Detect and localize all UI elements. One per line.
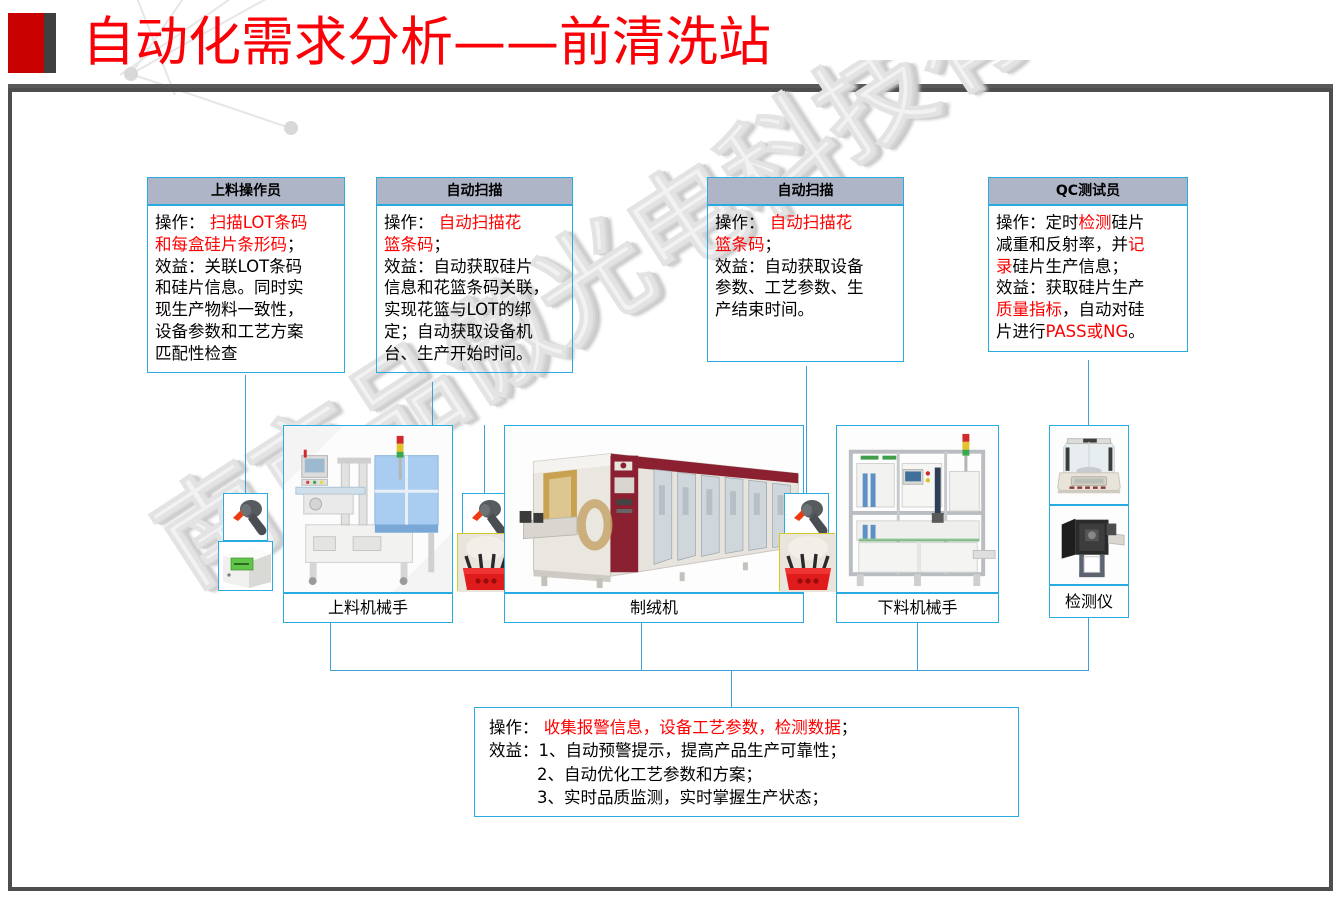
card-line: 操作： 扫描LOT条码 bbox=[155, 212, 337, 234]
equipment-reflectance-tester bbox=[1049, 505, 1129, 585]
connector-equip2-down bbox=[641, 618, 642, 670]
equipment-label-text: 下料机械手 bbox=[877, 600, 957, 616]
card-line: 设备参数和工艺方案 bbox=[155, 321, 337, 343]
card-loading-operator: 上料操作员 操作： 扫描LOT条码 和每盒硅片条形码； 效益：关联LOT条码 和… bbox=[147, 177, 345, 373]
card-line: 减重和反射率，并记 bbox=[996, 234, 1180, 256]
card-line: 片进行PASS或NG。 bbox=[996, 321, 1180, 343]
equipment-label-unloading-robot: 下料机械手 bbox=[836, 593, 999, 623]
card-line: 现生产物料一致性， bbox=[155, 299, 337, 321]
card-auto-scan-1: 自动扫描 操作： 自动扫描花 篮条码； 效益：自动获取硅片 信息和花篮条码关联，… bbox=[376, 177, 573, 373]
card-header-label: QC测试员 bbox=[988, 177, 1188, 205]
equipment-texturing-machine bbox=[504, 425, 804, 593]
connector-scanner2 bbox=[484, 425, 485, 493]
equipment-loading-robot bbox=[283, 425, 453, 593]
terminal-box bbox=[218, 541, 273, 591]
card-header-label: 自动扫描 bbox=[707, 177, 904, 205]
red-basket-photo bbox=[780, 534, 836, 592]
card-header-label: 自动扫描 bbox=[376, 177, 573, 205]
card-header-label: 上料操作员 bbox=[147, 177, 345, 205]
page-title: 自动化需求分析——前清洗站 bbox=[82, 8, 771, 78]
precision-balance-photo bbox=[1050, 426, 1128, 504]
equipment-label-inspection-instrument: 检测仪 bbox=[1049, 585, 1129, 618]
logo-red-block bbox=[8, 13, 44, 73]
card-line: 操作： 自动扫描花 bbox=[715, 212, 896, 234]
card-line: 效益：获取硅片生产 bbox=[996, 277, 1180, 299]
connector-card2 bbox=[432, 382, 433, 425]
equipment-label-text: 制绒机 bbox=[630, 600, 678, 616]
summary-line: 操作： 收集报警信息，设备工艺参数，检测数据； bbox=[489, 716, 1018, 739]
card-line: 台、生产开始时间。 bbox=[384, 343, 565, 365]
texturing-machine-photo bbox=[505, 426, 803, 592]
card-line: 参数、工艺参数、生 bbox=[715, 277, 896, 299]
equipment-label-loading-robot: 上料机械手 bbox=[283, 593, 453, 623]
summary-box: 操作： 收集报警信息，设备工艺参数，检测数据； 效益：1、自动预警提示，提高产品… bbox=[474, 707, 1019, 817]
card-line: 操作：定时检测硅片 bbox=[996, 212, 1180, 234]
summary-line: 3、实时品质监测，实时掌握生产状态； bbox=[489, 786, 1018, 809]
connector-equip1-down bbox=[330, 618, 331, 670]
card-line: 篮条码； bbox=[715, 234, 896, 256]
card-line: 信息和花篮条码关联， bbox=[384, 277, 565, 299]
card-qc-tester: QC测试员 操作：定时检测硅片 减重和反射率，并记 录硅片生产信息； 效益：获取… bbox=[988, 177, 1188, 352]
card-line: 和硅片信息。同时实 bbox=[155, 277, 337, 299]
equipment-label-text: 检测仪 bbox=[1065, 594, 1113, 610]
card-line: 质量指标，自动对硅 bbox=[996, 299, 1180, 321]
card-body: 操作：定时检测硅片 减重和反射率，并记 录硅片生产信息； 效益：获取硅片生产 质… bbox=[988, 205, 1188, 352]
equipment-label-texturing-machine: 制绒机 bbox=[504, 593, 804, 623]
card-line: 效益：关联LOT条码 bbox=[155, 256, 337, 278]
card-body: 操作： 扫描LOT条码 和每盒硅片条形码； 效益：关联LOT条码 和硅片信息。同… bbox=[147, 205, 345, 373]
card-line: 和每盒硅片条形码； bbox=[155, 234, 337, 256]
card-auto-scan-2: 自动扫描 操作： 自动扫描花 篮条码； 效益：自动获取设备 参数、工艺参数、生 … bbox=[707, 177, 904, 362]
barcode-scanner-icon bbox=[224, 494, 269, 542]
card-line: 产结束时间。 bbox=[715, 299, 896, 321]
summary-line: 2、自动优化工艺参数和方案； bbox=[489, 763, 1018, 786]
card-line: 定；自动获取设备机 bbox=[384, 321, 565, 343]
card-body: 操作： 自动扫描花 篮条码； 效益：自动获取设备 参数、工艺参数、生 产结束时间… bbox=[707, 205, 904, 362]
connector-equip3-down bbox=[917, 618, 918, 670]
connector-card1 bbox=[245, 375, 246, 493]
red-basket-box-3 bbox=[779, 533, 835, 591]
slide-root: 自动化需求分析——前清洗站 南京品傲光电科技有限公司 上料操作员 操作： 扫描L… bbox=[0, 0, 1341, 899]
card-line: 匹配性检查 bbox=[155, 343, 337, 365]
card-line: 实现花篮与LOT的绑 bbox=[384, 299, 565, 321]
equipment-label-text: 上料机械手 bbox=[328, 600, 408, 616]
logo-gray-block bbox=[44, 13, 56, 73]
barcode-scanner-box-1 bbox=[223, 493, 268, 541]
unloading-robot-photo bbox=[837, 426, 998, 592]
summary-line: 效益：1、自动预警提示，提高产品生产可靠性； bbox=[489, 739, 1018, 762]
connector-equip4-down bbox=[1088, 618, 1089, 670]
card-line: 录硅片生产信息； bbox=[996, 256, 1180, 278]
connector-card4 bbox=[1088, 360, 1089, 425]
equipment-precision-balance bbox=[1049, 425, 1129, 505]
card-line: 效益：自动获取硅片 bbox=[384, 256, 565, 278]
connector-bus-to-summary bbox=[731, 670, 732, 707]
terminal-box-icon bbox=[219, 542, 274, 592]
card-line: 效益：自动获取设备 bbox=[715, 256, 896, 278]
card-line: 篮条码； bbox=[384, 234, 565, 256]
reflectance-tester-photo bbox=[1050, 506, 1128, 584]
connector-bus bbox=[330, 670, 1089, 671]
card-body: 操作： 自动扫描花 篮条码； 效益：自动获取硅片 信息和花篮条码关联， 实现花篮… bbox=[376, 205, 573, 373]
card-line: 操作： 自动扫描花 bbox=[384, 212, 565, 234]
loading-robot-photo bbox=[284, 426, 452, 592]
connector-card3 bbox=[806, 366, 807, 493]
equipment-unloading-robot bbox=[836, 425, 999, 593]
